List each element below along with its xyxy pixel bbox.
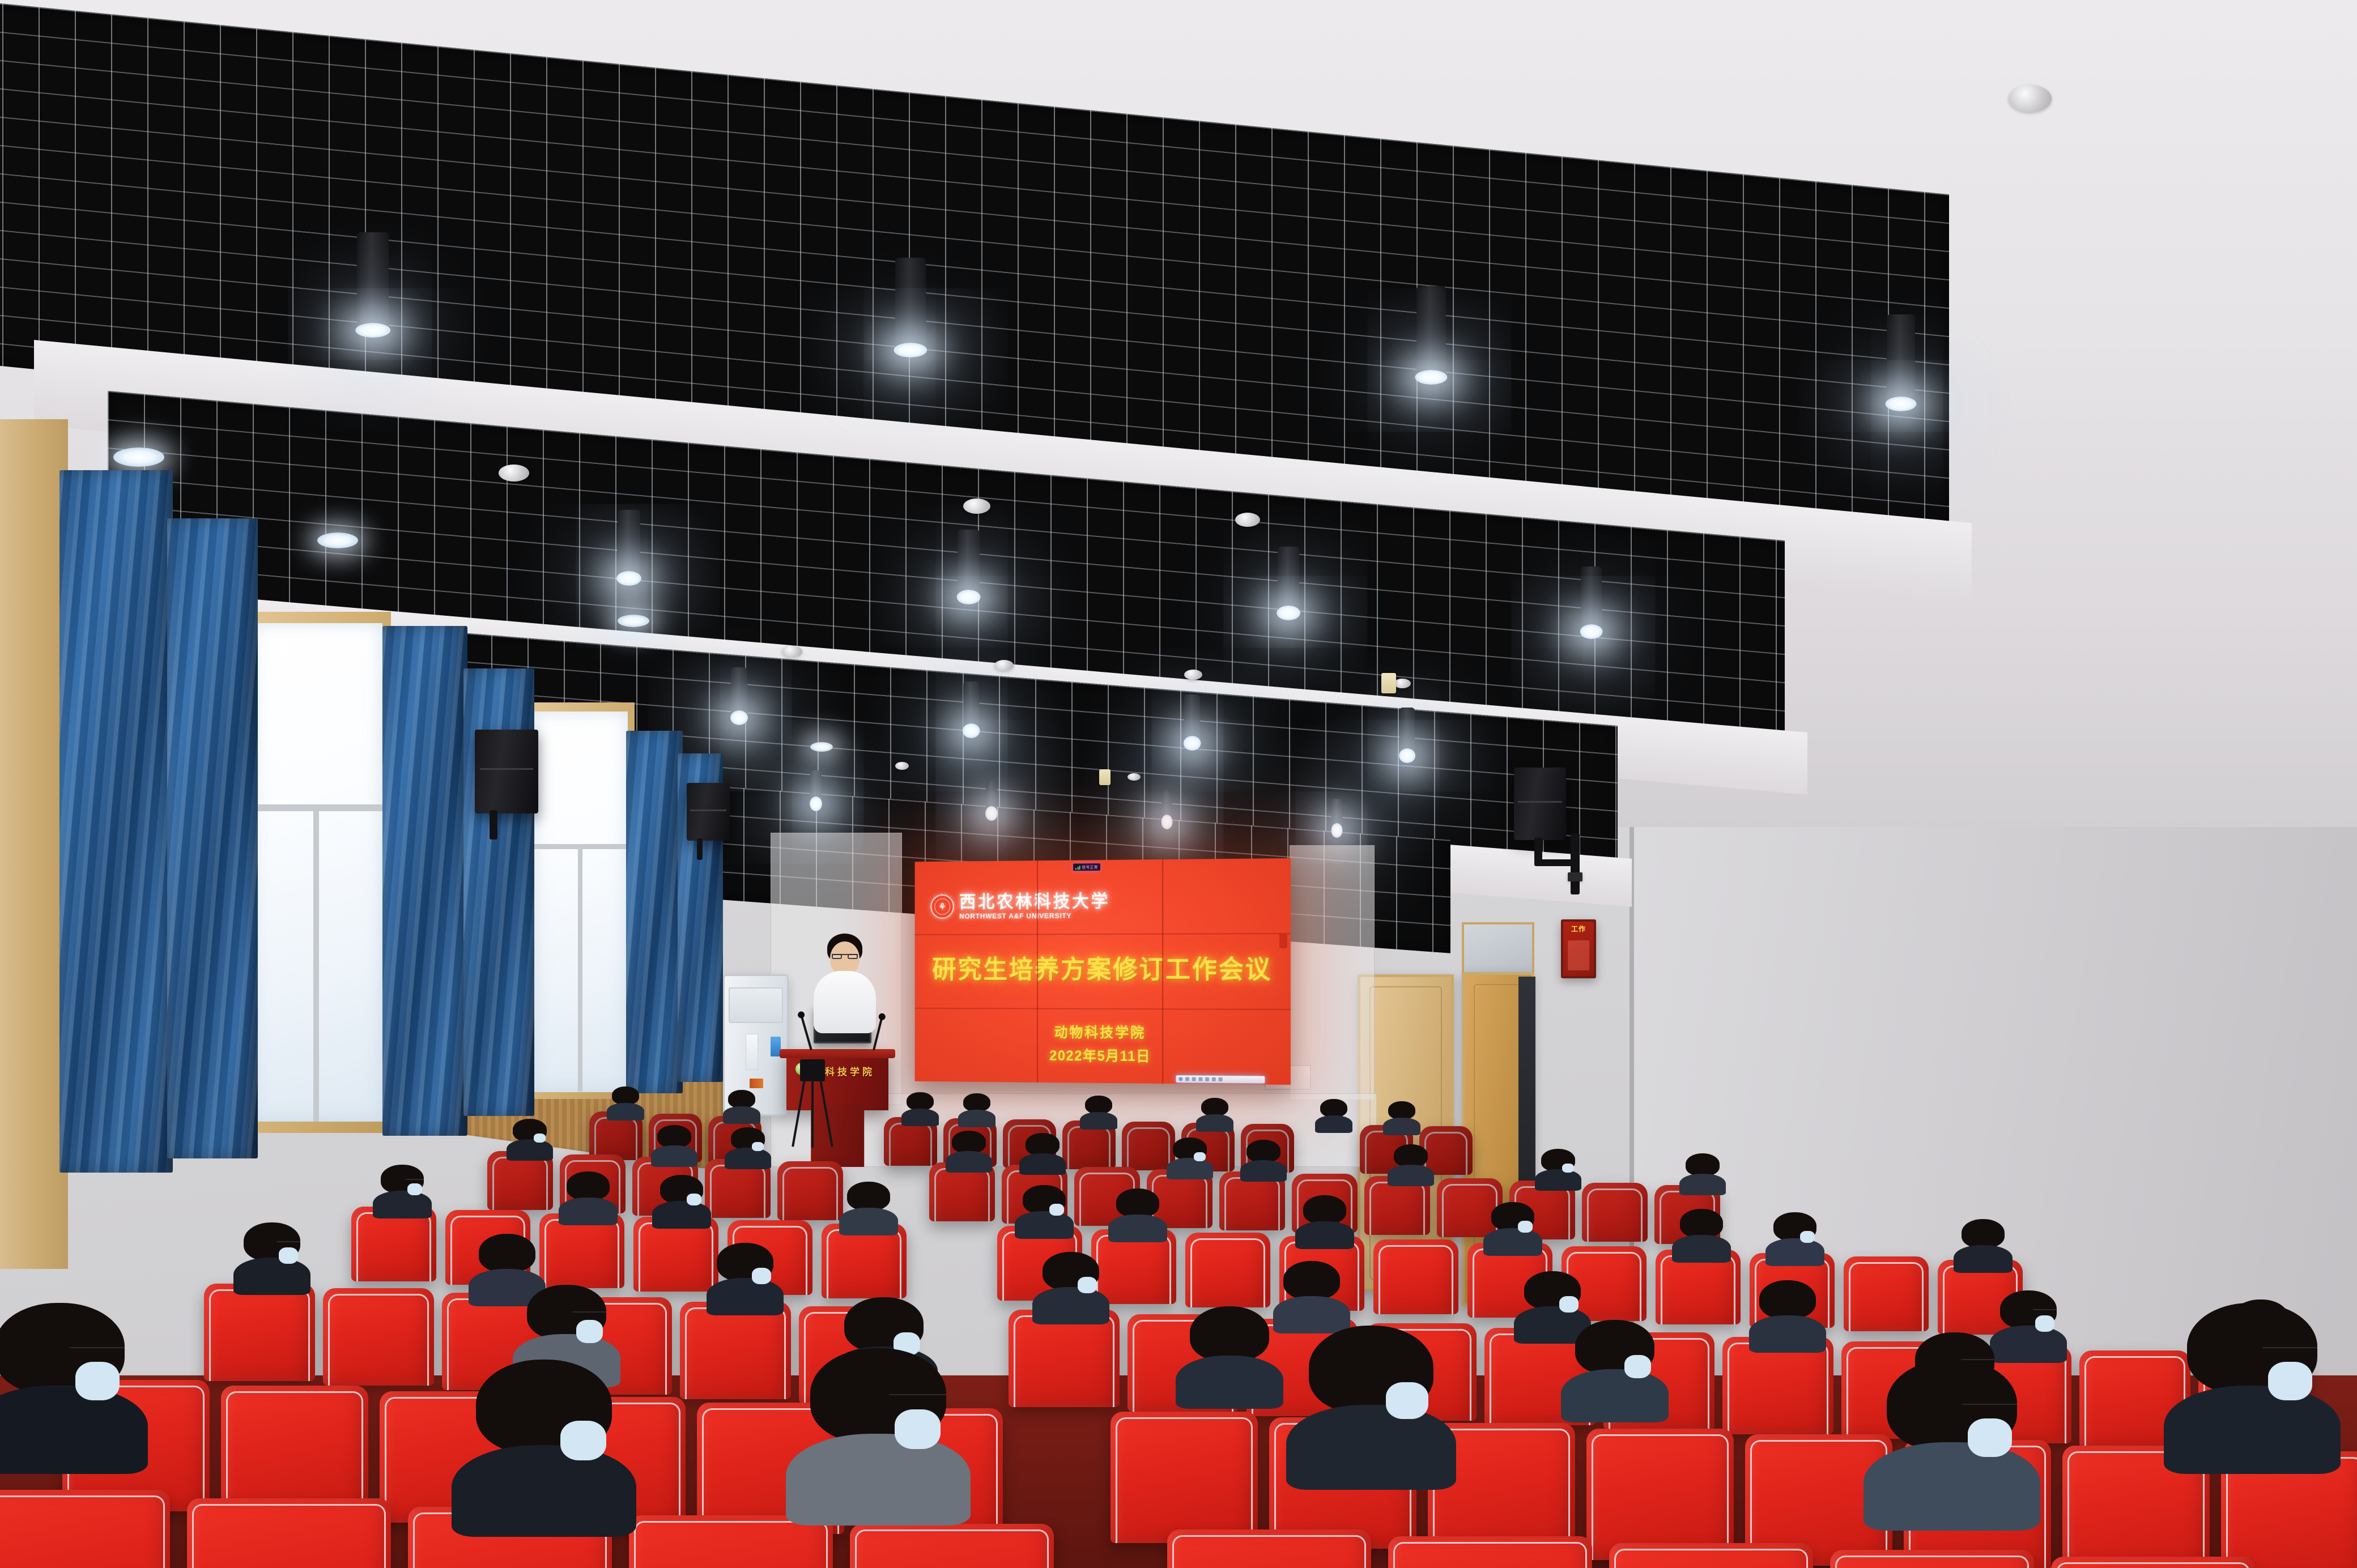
pendant-spotlight bbox=[895, 258, 926, 354]
attendee bbox=[567, 1171, 610, 1218]
front-wall-panel bbox=[1290, 845, 1375, 1100]
attendee bbox=[1680, 1209, 1723, 1255]
recessed-downlight bbox=[618, 615, 649, 627]
attendee bbox=[1575, 1320, 1654, 1408]
pendant-spotlight bbox=[731, 667, 747, 722]
attendee bbox=[847, 1182, 890, 1228]
seat[interactable] bbox=[1111, 1412, 1258, 1543]
smoke-detector bbox=[782, 646, 802, 657]
attendee bbox=[244, 1222, 300, 1285]
attendee-foreground bbox=[476, 1360, 612, 1512]
attendee bbox=[1026, 1133, 1060, 1169]
seat[interactable] bbox=[1609, 1543, 1813, 1568]
sprinkler-head bbox=[1381, 673, 1396, 693]
attendee bbox=[1320, 1099, 1347, 1128]
attendee-foreground bbox=[810, 1348, 946, 1501]
seat[interactable] bbox=[1582, 1183, 1648, 1242]
window-curtain[interactable] bbox=[626, 731, 683, 1093]
presenter-glasses bbox=[832, 954, 858, 955]
ac-brand-logo bbox=[750, 1079, 763, 1088]
tripod-leg bbox=[811, 1080, 814, 1148]
seat[interactable] bbox=[187, 1498, 391, 1568]
university-crest-icon: ⚘ bbox=[931, 894, 954, 919]
camera-tripod bbox=[800, 1059, 825, 1144]
seat[interactable] bbox=[1185, 1233, 1270, 1307]
wall-sensor bbox=[1568, 872, 1582, 881]
pendant-spotlight bbox=[1887, 314, 1915, 408]
seat[interactable] bbox=[2051, 1557, 2255, 1568]
pendant-spotlight bbox=[810, 770, 822, 808]
attendee-foreground bbox=[2187, 1303, 2317, 1450]
window-mullion bbox=[534, 844, 628, 849]
camera-head bbox=[800, 1059, 825, 1081]
door-transom-window bbox=[1462, 922, 1534, 974]
pendant-spotlight bbox=[618, 510, 640, 582]
seat[interactable] bbox=[1830, 1550, 2034, 1568]
university-brand-lockup: ⚘ 西北农林科技大学 NORTHWEST A&F UNIVERSITY bbox=[931, 892, 1111, 920]
window-curtain[interactable] bbox=[167, 518, 258, 1158]
attendee bbox=[1190, 1306, 1269, 1395]
signal-status-text: 信号正常 bbox=[1082, 864, 1097, 870]
attendee bbox=[1541, 1149, 1575, 1185]
wall-speaker bbox=[1514, 768, 1566, 840]
attendee bbox=[1686, 1153, 1720, 1190]
taskbar-icon[interactable] bbox=[1192, 1077, 1196, 1081]
pendant-spotlight bbox=[1581, 566, 1602, 636]
seat[interactable] bbox=[1167, 1529, 1371, 1568]
recessed-downlight bbox=[317, 532, 358, 548]
led-video-wall[interactable]: 信号正常 ⚘ 西北农林科技大学 NORTHWEST A&F UNIVERSITY… bbox=[915, 858, 1291, 1085]
plaque-face bbox=[1568, 940, 1589, 971]
attendee bbox=[1023, 1185, 1066, 1232]
windows-taskbar[interactable] bbox=[1176, 1075, 1265, 1083]
pendant-spotlight bbox=[986, 781, 997, 817]
attendee bbox=[2000, 1290, 2057, 1353]
pendant-spotlight bbox=[357, 232, 389, 334]
attendee bbox=[963, 1093, 990, 1123]
attendee bbox=[952, 1131, 986, 1167]
attendee bbox=[1201, 1098, 1228, 1127]
podium-top-rail bbox=[780, 1049, 895, 1058]
university-name-en: NORTHWEST A&F UNIVERSITY bbox=[959, 913, 1110, 920]
seat[interactable] bbox=[777, 1161, 843, 1220]
attendee bbox=[1246, 1140, 1280, 1176]
seat[interactable] bbox=[850, 1524, 1054, 1568]
seat[interactable] bbox=[1009, 1310, 1120, 1407]
start-icon[interactable] bbox=[1178, 1077, 1182, 1081]
seat[interactable] bbox=[1388, 1536, 1592, 1568]
taskbar-icon[interactable] bbox=[1185, 1077, 1189, 1081]
attendee bbox=[1043, 1252, 1099, 1314]
pendant-spotlight bbox=[958, 530, 980, 601]
attendee bbox=[660, 1175, 703, 1221]
signal-bars-icon bbox=[1075, 865, 1080, 870]
window-curtain[interactable] bbox=[59, 470, 173, 1173]
wheat-glyph: ⚘ bbox=[938, 902, 946, 911]
attendee bbox=[513, 1119, 547, 1155]
led-wall-side-button[interactable] bbox=[1279, 934, 1287, 948]
recessed-downlight bbox=[113, 448, 164, 467]
window-curtain[interactable] bbox=[382, 626, 467, 1136]
attendee bbox=[1524, 1271, 1581, 1333]
slide-title: 研究生培养方案修订工作会议 bbox=[915, 949, 1291, 986]
sprinkler-head bbox=[1099, 769, 1111, 785]
attendee bbox=[1173, 1137, 1207, 1174]
attendee bbox=[1388, 1101, 1415, 1131]
pendant-spotlight bbox=[1416, 286, 1446, 381]
attendee bbox=[1283, 1261, 1340, 1323]
signal-status-badge: 信号正常 bbox=[1073, 863, 1100, 871]
smoke-detector bbox=[1394, 679, 1411, 688]
ac-grille bbox=[729, 987, 784, 1023]
wall-speaker bbox=[475, 730, 538, 813]
seat[interactable] bbox=[204, 1284, 315, 1381]
attendee-foreground bbox=[1309, 1326, 1433, 1467]
smoke-detector bbox=[895, 762, 909, 770]
attendee bbox=[1491, 1202, 1534, 1249]
seat[interactable] bbox=[1373, 1239, 1458, 1314]
slide-subtitle: 动物科技学院 bbox=[915, 1021, 1291, 1043]
presenter bbox=[811, 934, 878, 1030]
attendee bbox=[1085, 1096, 1112, 1125]
ac-hang-tag bbox=[746, 1034, 758, 1070]
wall-plaque: 工作 bbox=[1561, 919, 1596, 978]
taskbar-icon[interactable] bbox=[1198, 1077, 1202, 1081]
pendant-spotlight bbox=[1278, 547, 1299, 617]
left-wall-wood-column bbox=[0, 419, 68, 1269]
attendee bbox=[381, 1165, 424, 1211]
wall-speaker bbox=[687, 783, 730, 841]
attendee bbox=[612, 1086, 639, 1116]
seat[interactable] bbox=[323, 1288, 434, 1386]
window-mullion bbox=[578, 849, 582, 1092]
seat[interactable] bbox=[1122, 1122, 1175, 1170]
seat[interactable] bbox=[1844, 1256, 1929, 1331]
pendant-spotlight bbox=[963, 681, 979, 735]
smoke-detector bbox=[994, 660, 1014, 671]
recessed-downlight bbox=[810, 742, 833, 752]
attendee bbox=[717, 1243, 773, 1305]
attendee bbox=[1303, 1195, 1346, 1242]
attendee bbox=[1773, 1212, 1816, 1259]
pendant-spotlight bbox=[1184, 694, 1200, 747]
taskbar-icon[interactable] bbox=[1205, 1077, 1209, 1081]
presenter-torso bbox=[814, 971, 876, 1033]
smoke-detector bbox=[1235, 513, 1260, 527]
attendee bbox=[731, 1127, 765, 1164]
seat[interactable] bbox=[1586, 1429, 1734, 1560]
window-mullion bbox=[252, 804, 382, 811]
attendee bbox=[907, 1092, 934, 1122]
taskbar-icon[interactable] bbox=[1219, 1077, 1223, 1081]
attendee bbox=[1394, 1144, 1428, 1181]
attendee bbox=[657, 1125, 691, 1161]
smoke-detector bbox=[499, 465, 529, 482]
smoke-detector bbox=[963, 498, 990, 514]
auditorium-scene: 工作 信号正常 ⚘ 西北农林科技大学 NORTHWEST A&F UNIVERS… bbox=[0, 0, 2357, 1568]
pendant-spotlight bbox=[1399, 708, 1415, 760]
university-name-cn: 西北农林科技大学 bbox=[959, 892, 1110, 910]
attendee-foreground bbox=[0, 1303, 125, 1450]
attendee bbox=[1962, 1219, 2005, 1266]
attendee bbox=[728, 1090, 755, 1119]
attendee bbox=[1759, 1280, 1816, 1343]
plaque-text: 工作 bbox=[1571, 924, 1586, 934]
taskbar-icon[interactable] bbox=[1212, 1077, 1216, 1081]
pendant-spotlight bbox=[1162, 790, 1172, 826]
pendant-spotlight bbox=[1331, 799, 1342, 834]
smoke-detector bbox=[2009, 85, 2052, 112]
attendee-foreground bbox=[1887, 1360, 2017, 1507]
seat[interactable] bbox=[0, 1490, 170, 1568]
attendee bbox=[1116, 1188, 1159, 1235]
seat[interactable] bbox=[221, 1386, 368, 1517]
slide-date: 2022年5月11日 bbox=[915, 1044, 1291, 1067]
seat[interactable] bbox=[680, 1302, 791, 1399]
smoke-detector bbox=[1184, 670, 1202, 680]
window-mullion bbox=[313, 811, 319, 1122]
smoke-detector bbox=[1128, 773, 1141, 781]
